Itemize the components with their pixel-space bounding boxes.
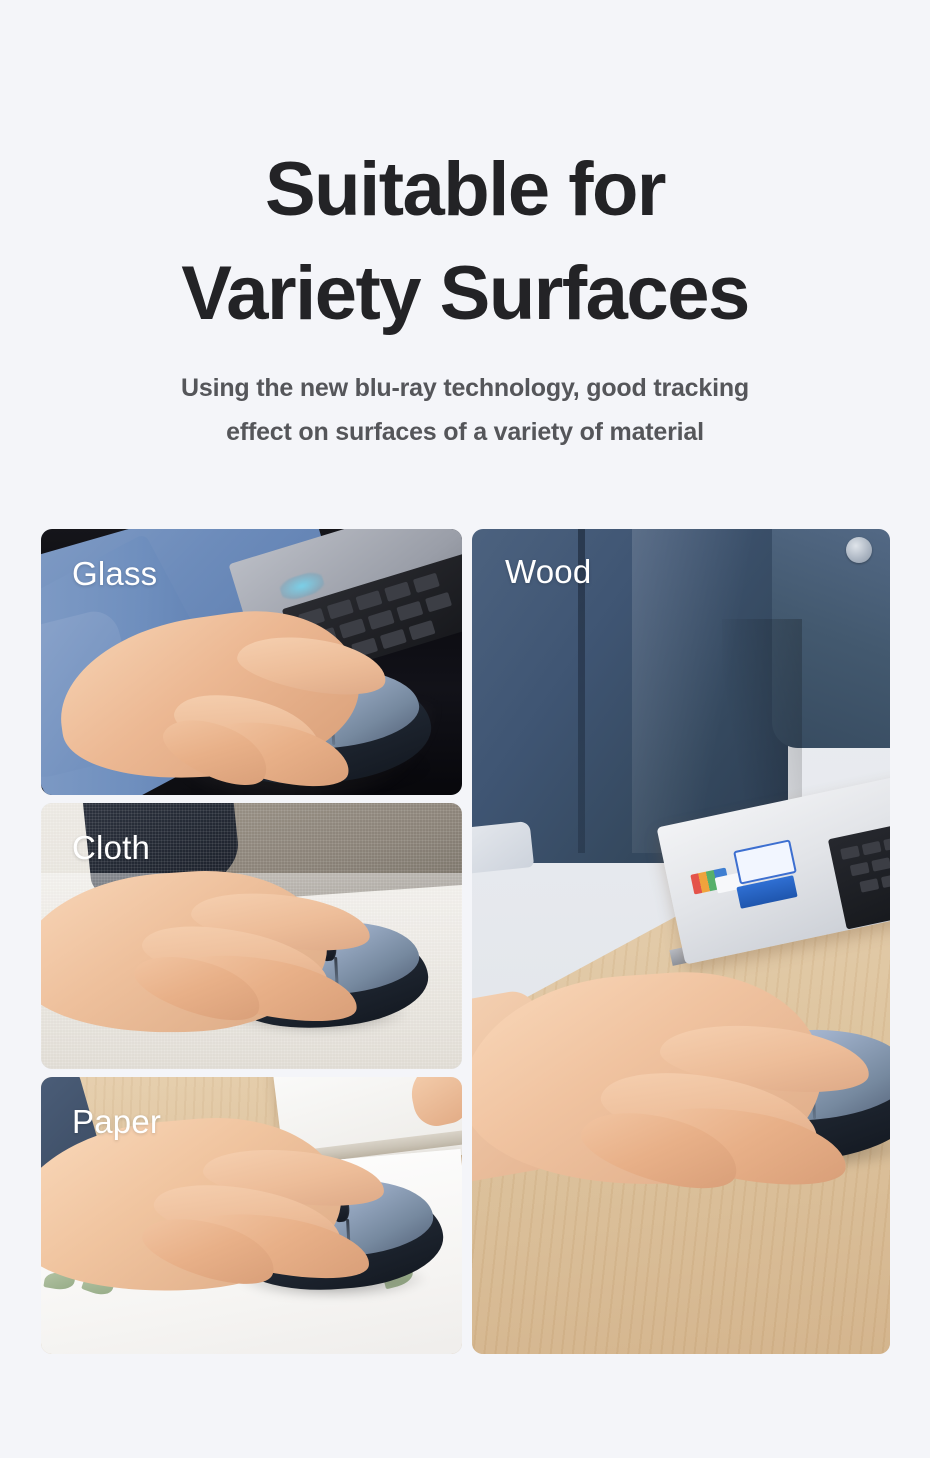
wood-photo <box>472 529 890 1354</box>
headline-line-1: Suitable for <box>265 147 665 232</box>
surface-gallery: Glass <box>41 529 890 1354</box>
gallery-left-column: Glass <box>41 529 462 1354</box>
wood-shirt-button <box>846 537 872 563</box>
surface-label-glass: Glass <box>72 555 157 593</box>
product-feature-page: Suitable for Variety Surfaces Using the … <box>0 0 930 1458</box>
page-subtitle: Using the new blu-ray technology, good t… <box>0 366 930 454</box>
subhead-line-2: effect on surfaces of a variety of mater… <box>226 418 704 446</box>
surface-panel-wood[interactable]: Wood <box>472 529 890 1354</box>
page-title: Suitable for Variety Surfaces <box>0 138 930 346</box>
surface-label-paper: Paper <box>72 1103 161 1141</box>
surface-panel-glass[interactable]: Glass <box>41 529 462 795</box>
subhead-line-1: Using the new blu-ray technology, good t… <box>181 374 749 402</box>
headline-line-2: Variety Surfaces <box>181 251 749 336</box>
surface-label-wood: Wood <box>505 553 591 591</box>
surface-panel-cloth[interactable]: Cloth <box>41 803 462 1069</box>
wood-left-cuff <box>472 821 534 875</box>
gallery-right-column: Wood <box>472 529 890 1354</box>
header-section: Suitable for Variety Surfaces Using the … <box>0 0 930 454</box>
surface-panel-paper[interactable]: Paper <box>41 1077 462 1354</box>
surface-label-cloth: Cloth <box>72 829 150 867</box>
